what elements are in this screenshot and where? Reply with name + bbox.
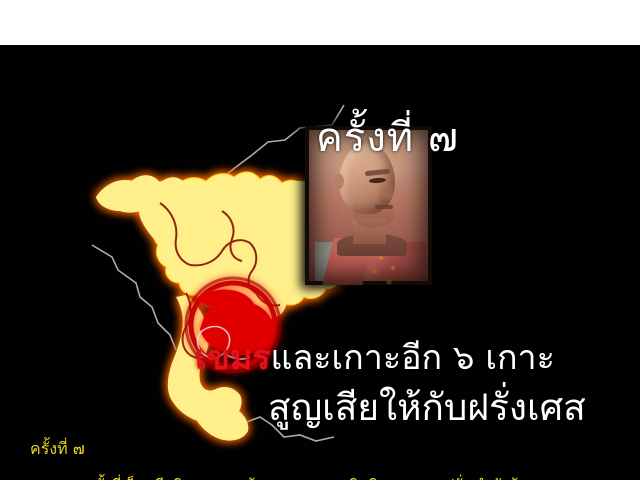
slide-canvas: ครั้งที่ ๗ เขมรและเกาะอีก ๖ เกาะ สูญเสีย… <box>0 0 640 480</box>
slide-content-area: ครั้งที่ ๗ เขมรและเกาะอีก ๖ เกาะ สูญเสีย… <box>0 45 640 480</box>
portrait-mouth <box>375 205 393 209</box>
portrait-nose <box>379 182 393 202</box>
headline-region-name: เขมร <box>195 338 271 378</box>
page-title: ครั้งที่ ๗ <box>316 105 459 169</box>
top-white-band <box>0 0 640 45</box>
headline-line-2: สูญเสียให้กับฝรั่งเศส <box>268 378 586 437</box>
map-occurrence-label: ครั้งที่ ๗ <box>30 437 85 462</box>
verse-line-right-1: เกิดพิเรน เพราะฝรั่ง กำลังบ้า <box>344 473 527 480</box>
portrait-ear <box>335 174 344 189</box>
verse-line-left-1: ครั้งที่เจ็ด เสียดินแดน แคว้นเขมร <box>86 473 299 480</box>
headline-line-1-rest: และเกาะอีก ๖ เกาะ <box>271 338 555 378</box>
headline-line-1: เขมรและเกาะอีก ๖ เกาะ <box>195 330 555 384</box>
